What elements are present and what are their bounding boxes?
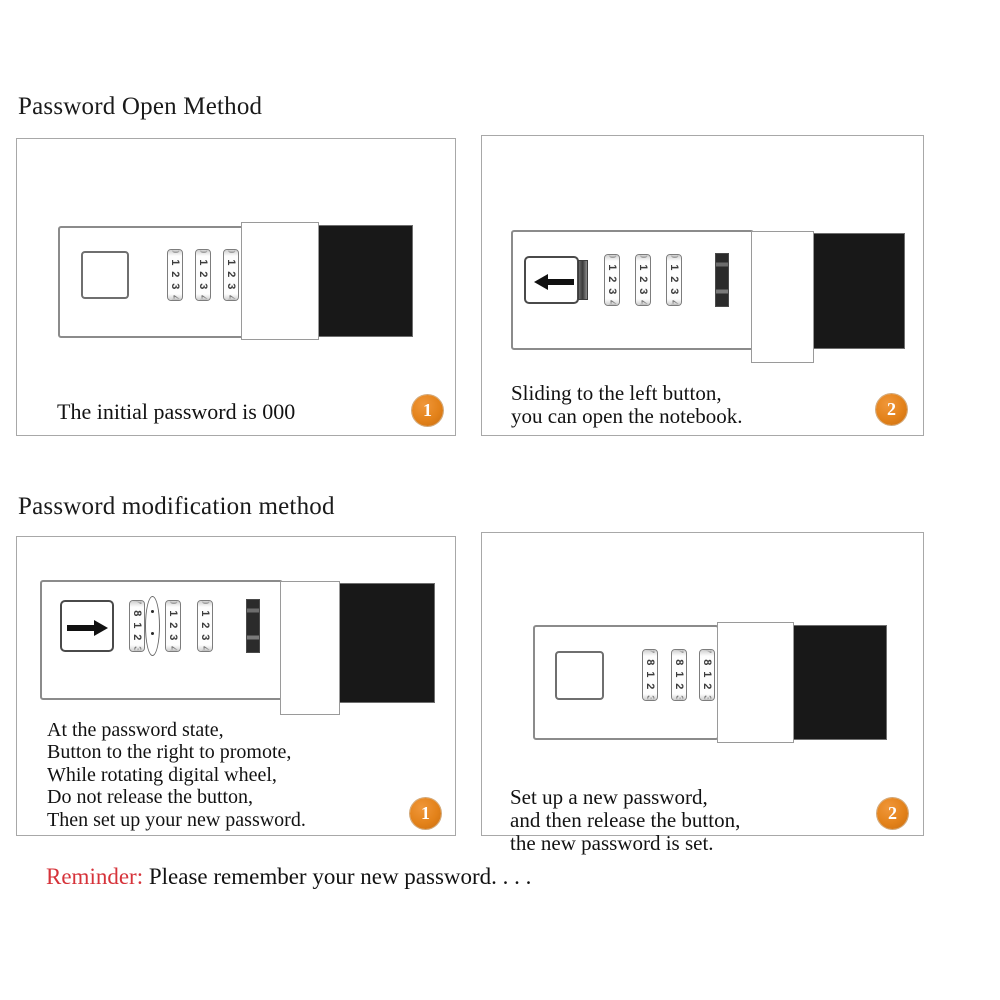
dial-digits: 0 1 2 3 4 — [165, 600, 181, 652]
dial-wheel-2[interactable]: 0 1 2 3 4 — [195, 249, 211, 301]
dial-wheel-3[interactable]: 7 8 1 2 3 — [699, 649, 715, 701]
rotation-indicator-dot — [151, 610, 154, 613]
dial-wheel-3[interactable]: 0 1 2 3 4 — [223, 249, 239, 301]
step-badge-1: 1 — [412, 395, 443, 426]
panel-step-2-new-password-set: 7 8 1 2 3 7 8 1 2 3 7 8 1 2 3 Set up a n… — [481, 532, 924, 836]
arrow-left-icon — [526, 258, 581, 306]
notebook-flap-black — [792, 625, 887, 740]
dial-digits: 0 1 2 3 4 — [195, 249, 211, 301]
step-badge-2: 2 — [876, 394, 907, 425]
panel-caption: Set up a new password, and then release … — [510, 786, 740, 855]
rotation-indicator-dot — [151, 632, 154, 635]
dial-wheel-2[interactable]: 7 8 1 2 3 — [671, 649, 687, 701]
dial-wheel-2[interactable]: 0 1 2 3 4 — [165, 600, 181, 652]
dial-wheel-3[interactable]: 0 1 2 3 4 — [197, 600, 213, 652]
dial-digits: 0 1 2 3 4 — [604, 254, 620, 306]
panel-caption: At the password state, Button to the rig… — [47, 719, 306, 831]
panel-step-2-slide-left: 0 1 2 3 4 0 1 2 3 4 0 1 2 3 4 Sliding to… — [481, 135, 924, 436]
section-heading-password-modification: Password modification method — [18, 493, 335, 521]
dial-wheel-1[interactable]: 7 8 1 2 3 — [129, 600, 145, 652]
dial-digits: 7 8 1 2 3 — [671, 649, 687, 701]
dial-digits: 0 1 2 3 4 — [197, 600, 213, 652]
panel-caption: The initial password is 000 — [57, 400, 295, 423]
notebook-strap — [751, 231, 814, 363]
notebook-strap — [717, 622, 794, 743]
dial-digits: 0 1 2 3 4 — [635, 254, 651, 306]
button-nub — [578, 260, 588, 300]
dial-wheel-1[interactable]: 0 1 2 3 4 — [167, 249, 183, 301]
step-badge-2-modify: 2 — [877, 798, 908, 829]
release-button-square[interactable] — [81, 251, 129, 299]
dial-wheel-1[interactable]: 7 8 1 2 3 — [642, 649, 658, 701]
dial-digits: 0 1 2 3 4 — [666, 254, 682, 306]
slider-indicator[interactable] — [246, 599, 260, 653]
notebook-flap-black — [811, 233, 905, 349]
section-heading-password-open: Password Open Method — [18, 93, 262, 121]
dial-wheel-3[interactable]: 0 1 2 3 4 — [666, 254, 682, 306]
notebook-flap-black — [317, 225, 413, 337]
reminder-line: Reminder: Please remember your new passw… — [46, 864, 531, 890]
dial-wheel-1[interactable]: 0 1 2 3 4 — [604, 254, 620, 306]
dial-digits: 7 8 1 2 3 — [699, 649, 715, 701]
reminder-text: Please remember your new password. . . . — [143, 864, 531, 889]
notebook-strap — [280, 581, 340, 715]
arrow-right-icon — [62, 602, 116, 654]
panel-caption: Sliding to the left button, you can open… — [511, 382, 743, 428]
dial-digits: 0 1 2 3 4 — [167, 249, 183, 301]
reminder-label: Reminder: — [46, 864, 143, 889]
dial-wheel-2[interactable]: 0 1 2 3 4 — [635, 254, 651, 306]
release-button-slide-right[interactable] — [60, 600, 114, 652]
rotation-indicator-icon — [145, 596, 160, 656]
dial-digits: 7 8 1 2 3 — [642, 649, 658, 701]
release-button-square[interactable] — [555, 651, 604, 700]
step-badge-1-modify: 1 — [410, 798, 441, 829]
notebook-strap — [241, 222, 319, 340]
slider-indicator[interactable] — [715, 253, 729, 307]
dial-digits: 7 8 1 2 3 — [129, 600, 145, 652]
notebook-flap-black — [337, 583, 435, 703]
panel-step-1-initial-password: 0 1 2 3 4 0 1 2 3 4 0 1 2 3 4 The initia… — [16, 138, 456, 436]
panel-step-1-modify: 7 8 1 2 3 0 1 2 3 4 0 1 2 3 4 At the pas… — [16, 536, 456, 836]
instruction-sheet: Password Open Method 0 1 2 3 4 0 1 2 3 4… — [0, 0, 1000, 1000]
release-button-slide-left[interactable] — [524, 256, 579, 304]
dial-digits: 0 1 2 3 4 — [223, 249, 239, 301]
